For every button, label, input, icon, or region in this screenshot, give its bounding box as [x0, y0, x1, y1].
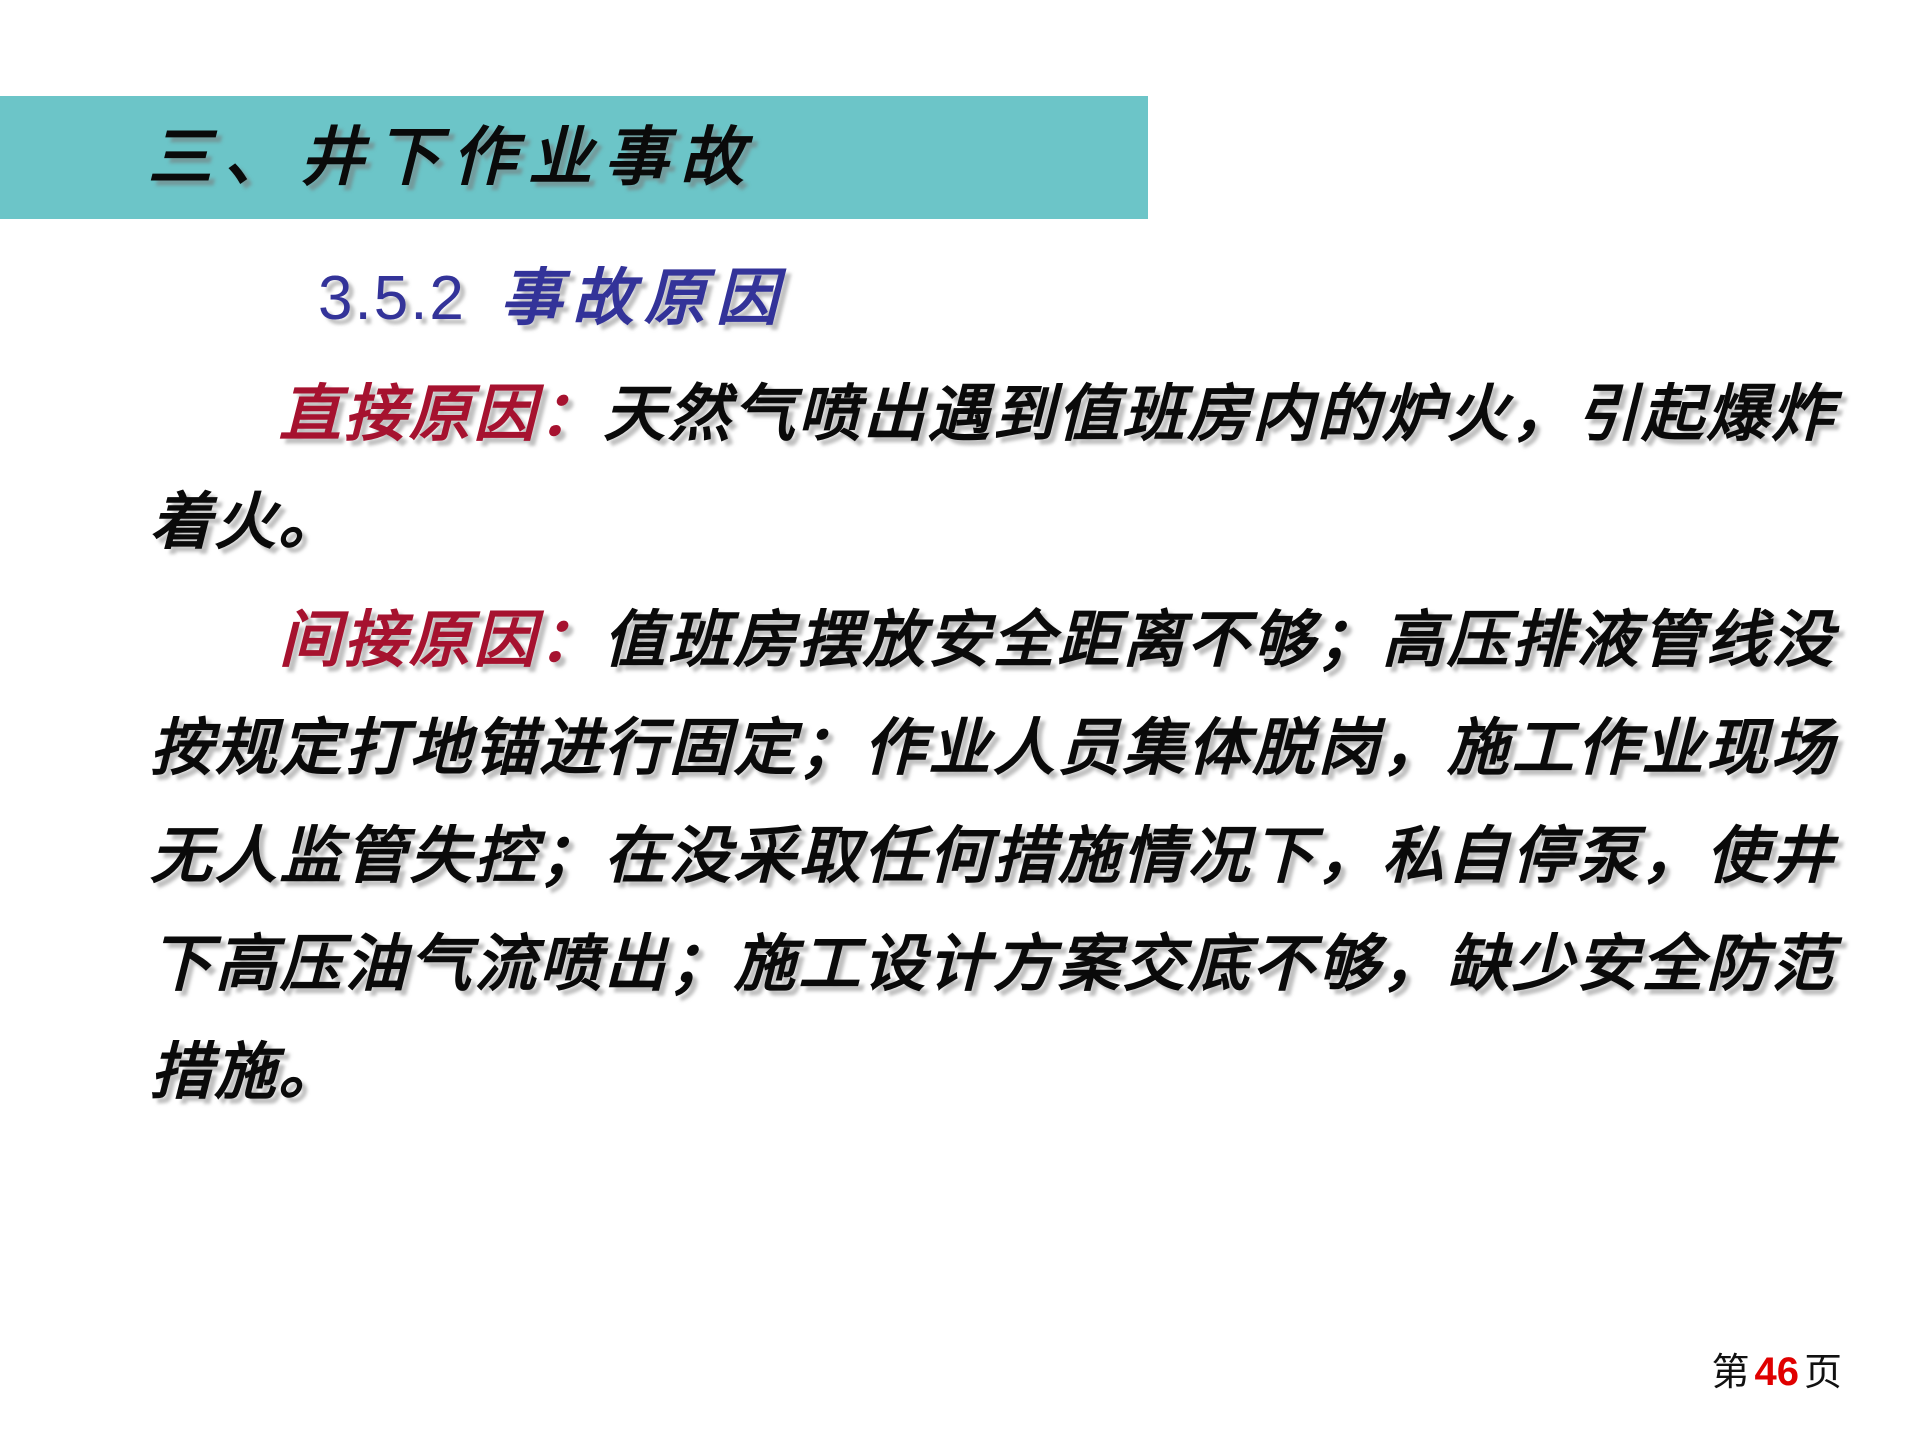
slide: 三、井下作业事故 3.5.2事故原因 直接原因：天然气喷出遇到值班房内的炉火，引…	[0, 0, 1920, 1440]
paragraph-indirect-cause: 间接原因：值班房摆放安全距离不够；高压排液管线没按规定打地锚进行固定；作业人员集…	[0, 586, 1920, 1126]
page-footer-prefix: 第	[1711, 1352, 1749, 1394]
indirect-cause-body: 值班房摆放安全距离不够；高压排液管线没按规定打地锚进行固定；作业人员集体脱岗，施…	[150, 603, 1835, 1108]
slide-section-title: 三、井下作业事故	[148, 108, 1128, 208]
page-footer: 第46页	[1711, 1341, 1842, 1396]
paragraph-direct-cause: 直接原因：天然气喷出遇到值班房内的炉火，引起爆炸着火。	[0, 360, 1920, 576]
page-number: 46	[1749, 1350, 1804, 1394]
subsection-label: 事故原因	[500, 261, 788, 334]
page-footer-suffix: 页	[1804, 1352, 1842, 1394]
indirect-cause-label: 间接原因：	[278, 603, 603, 676]
slide-content: 3.5.2事故原因 直接原因：天然气喷出遇到值班房内的炉火，引起爆炸着火。 间接…	[0, 255, 1920, 1126]
direct-cause-label: 直接原因：	[278, 377, 603, 450]
subsection-number: 3.5.2	[318, 264, 466, 333]
subsection-heading: 3.5.2事故原因	[0, 255, 1920, 342]
